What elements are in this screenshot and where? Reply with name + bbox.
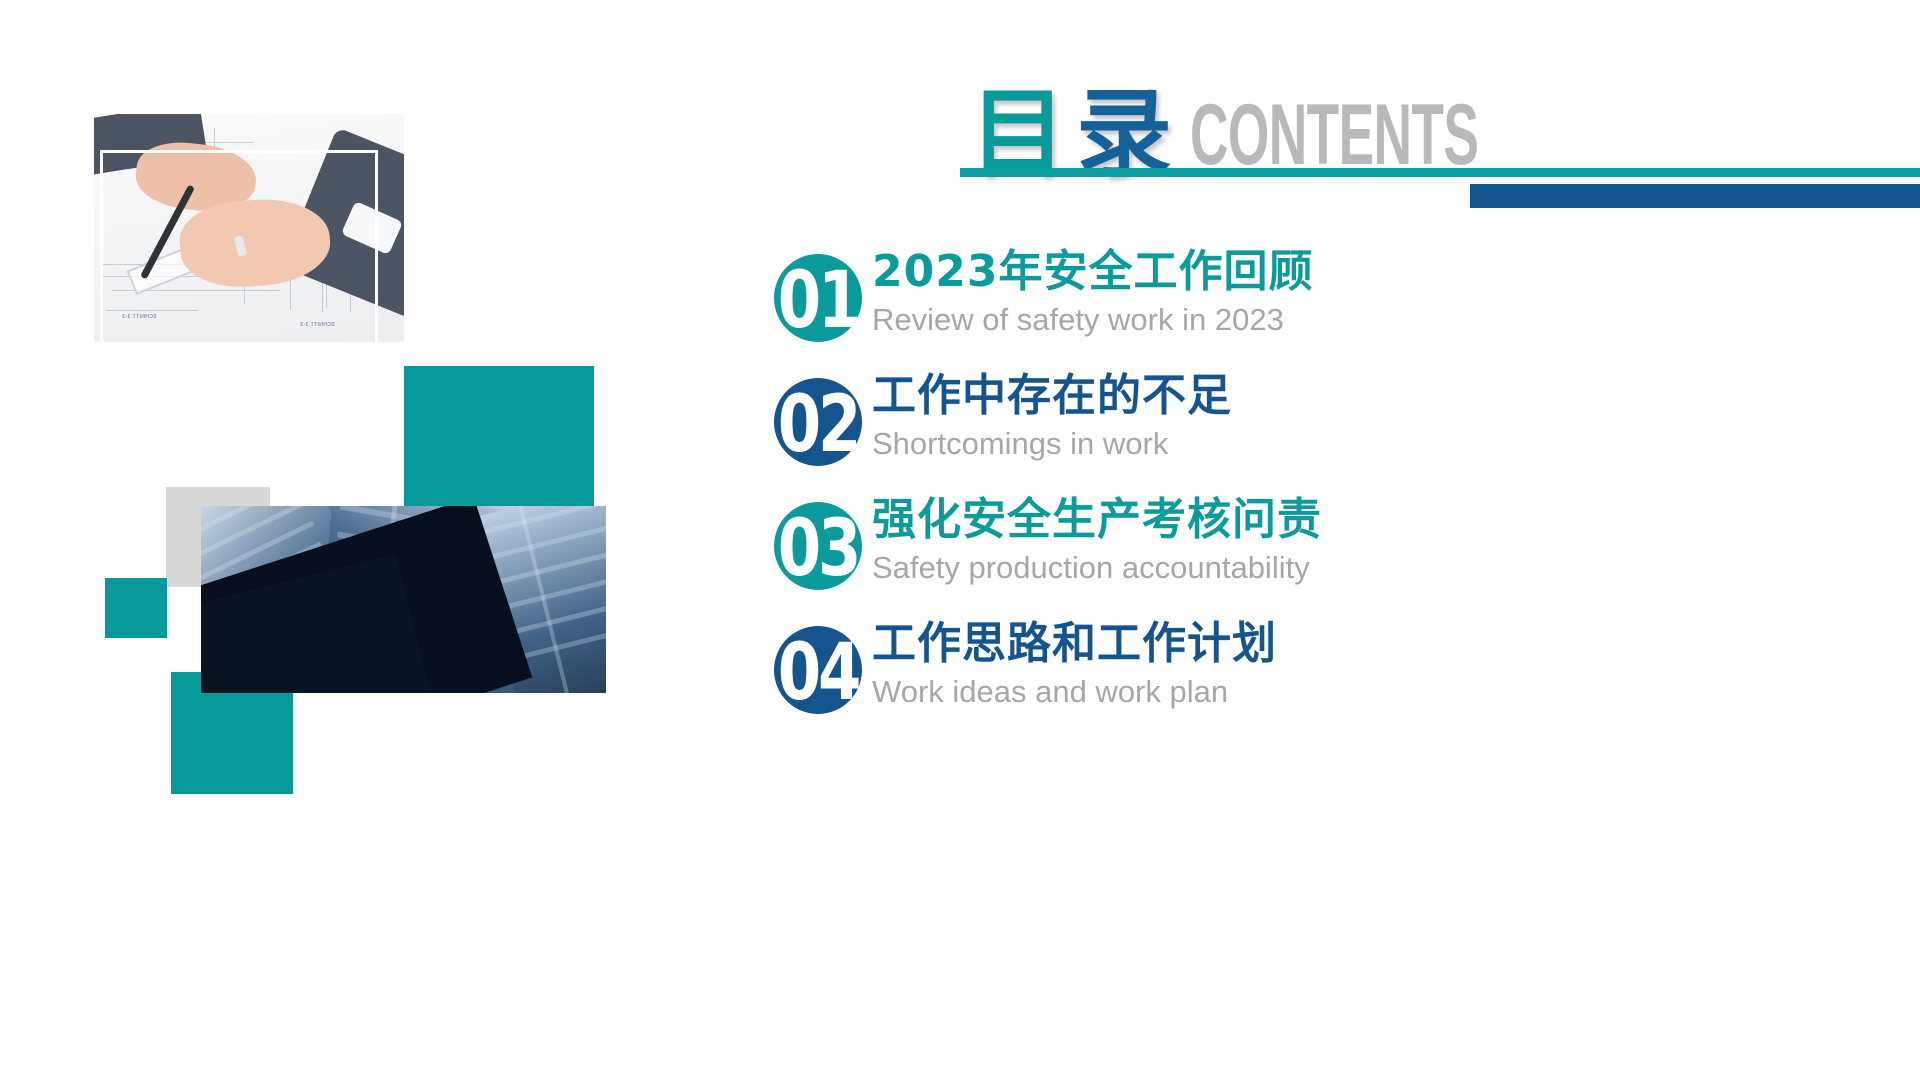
contents-item-text-02: 工作中存在的不足 Shortcomings in work (872, 370, 1232, 464)
left-artwork-collage: SCHNITT 3-3 SCHNITT 3-3 (0, 0, 780, 1080)
contents-item-text-04: 工作思路和工作计划 Work ideas and work plan (872, 618, 1277, 712)
blueprint-label-1: SCHNITT 3-3 (122, 314, 157, 320)
contents-item-title-cn: 工作中存在的不足 (872, 370, 1232, 422)
contents-item-text-01: 2023年安全工作回顾 Review of safety work in 202… (872, 246, 1313, 340)
contents-item-title-en: Safety production accountability (872, 548, 1322, 588)
decor-square-teal-small (105, 578, 167, 638)
contents-item-title-en: Shortcomings in work (872, 424, 1232, 464)
badge-number: 03 (765, 510, 871, 588)
title-english: CONTENTS (1190, 92, 1478, 178)
divider-blue-bar (1470, 184, 1920, 208)
slide-root: SCHNITT 3-3 SCHNITT 3-3 (0, 0, 1920, 1080)
contents-item-title-en: Review of safety work in 2023 (872, 300, 1313, 340)
contents-panel: 目录 CONTENTS 01 2023年安全工作回顾 Review of saf… (760, 0, 1920, 1080)
contents-item-04[interactable]: 04 工作思路和工作计划 Work ideas and work plan (760, 622, 1920, 746)
contents-item-01[interactable]: 01 2023年安全工作回顾 Review of safety work in … (760, 250, 1920, 374)
contents-item-03[interactable]: 03 强化安全生产考核问责 Safety production accounta… (760, 498, 1920, 622)
photo-blueprint-hands: SCHNITT 3-3 SCHNITT 3-3 (94, 114, 404, 342)
contents-item-text-03: 强化安全生产考核问责 Safety production accountabil… (872, 494, 1322, 588)
contents-item-title-cn: 工作思路和工作计划 (872, 618, 1277, 670)
badge-number: 04 (765, 634, 871, 712)
badge-04: 04 (752, 622, 880, 732)
badge-number: 01 (765, 262, 871, 340)
page-title: 目录 CONTENTS (970, 62, 1655, 182)
divider-teal-rule (960, 168, 1920, 177)
badge-01: 01 (752, 250, 880, 360)
blueprint-label-2: SCHNITT 3-3 (300, 322, 335, 328)
contents-item-title-cn: 2023年安全工作回顾 (872, 246, 1313, 298)
photo-skyscrapers (201, 506, 606, 693)
badge-03: 03 (752, 498, 880, 608)
contents-item-02[interactable]: 02 工作中存在的不足 Shortcomings in work (760, 374, 1920, 498)
badge-number: 02 (765, 386, 871, 464)
contents-list: 01 2023年安全工作回顾 Review of safety work in … (760, 250, 1920, 746)
badge-02: 02 (752, 374, 880, 484)
contents-item-title-en: Work ideas and work plan (872, 672, 1277, 712)
contents-item-title-cn: 强化安全生产考核问责 (872, 494, 1322, 546)
